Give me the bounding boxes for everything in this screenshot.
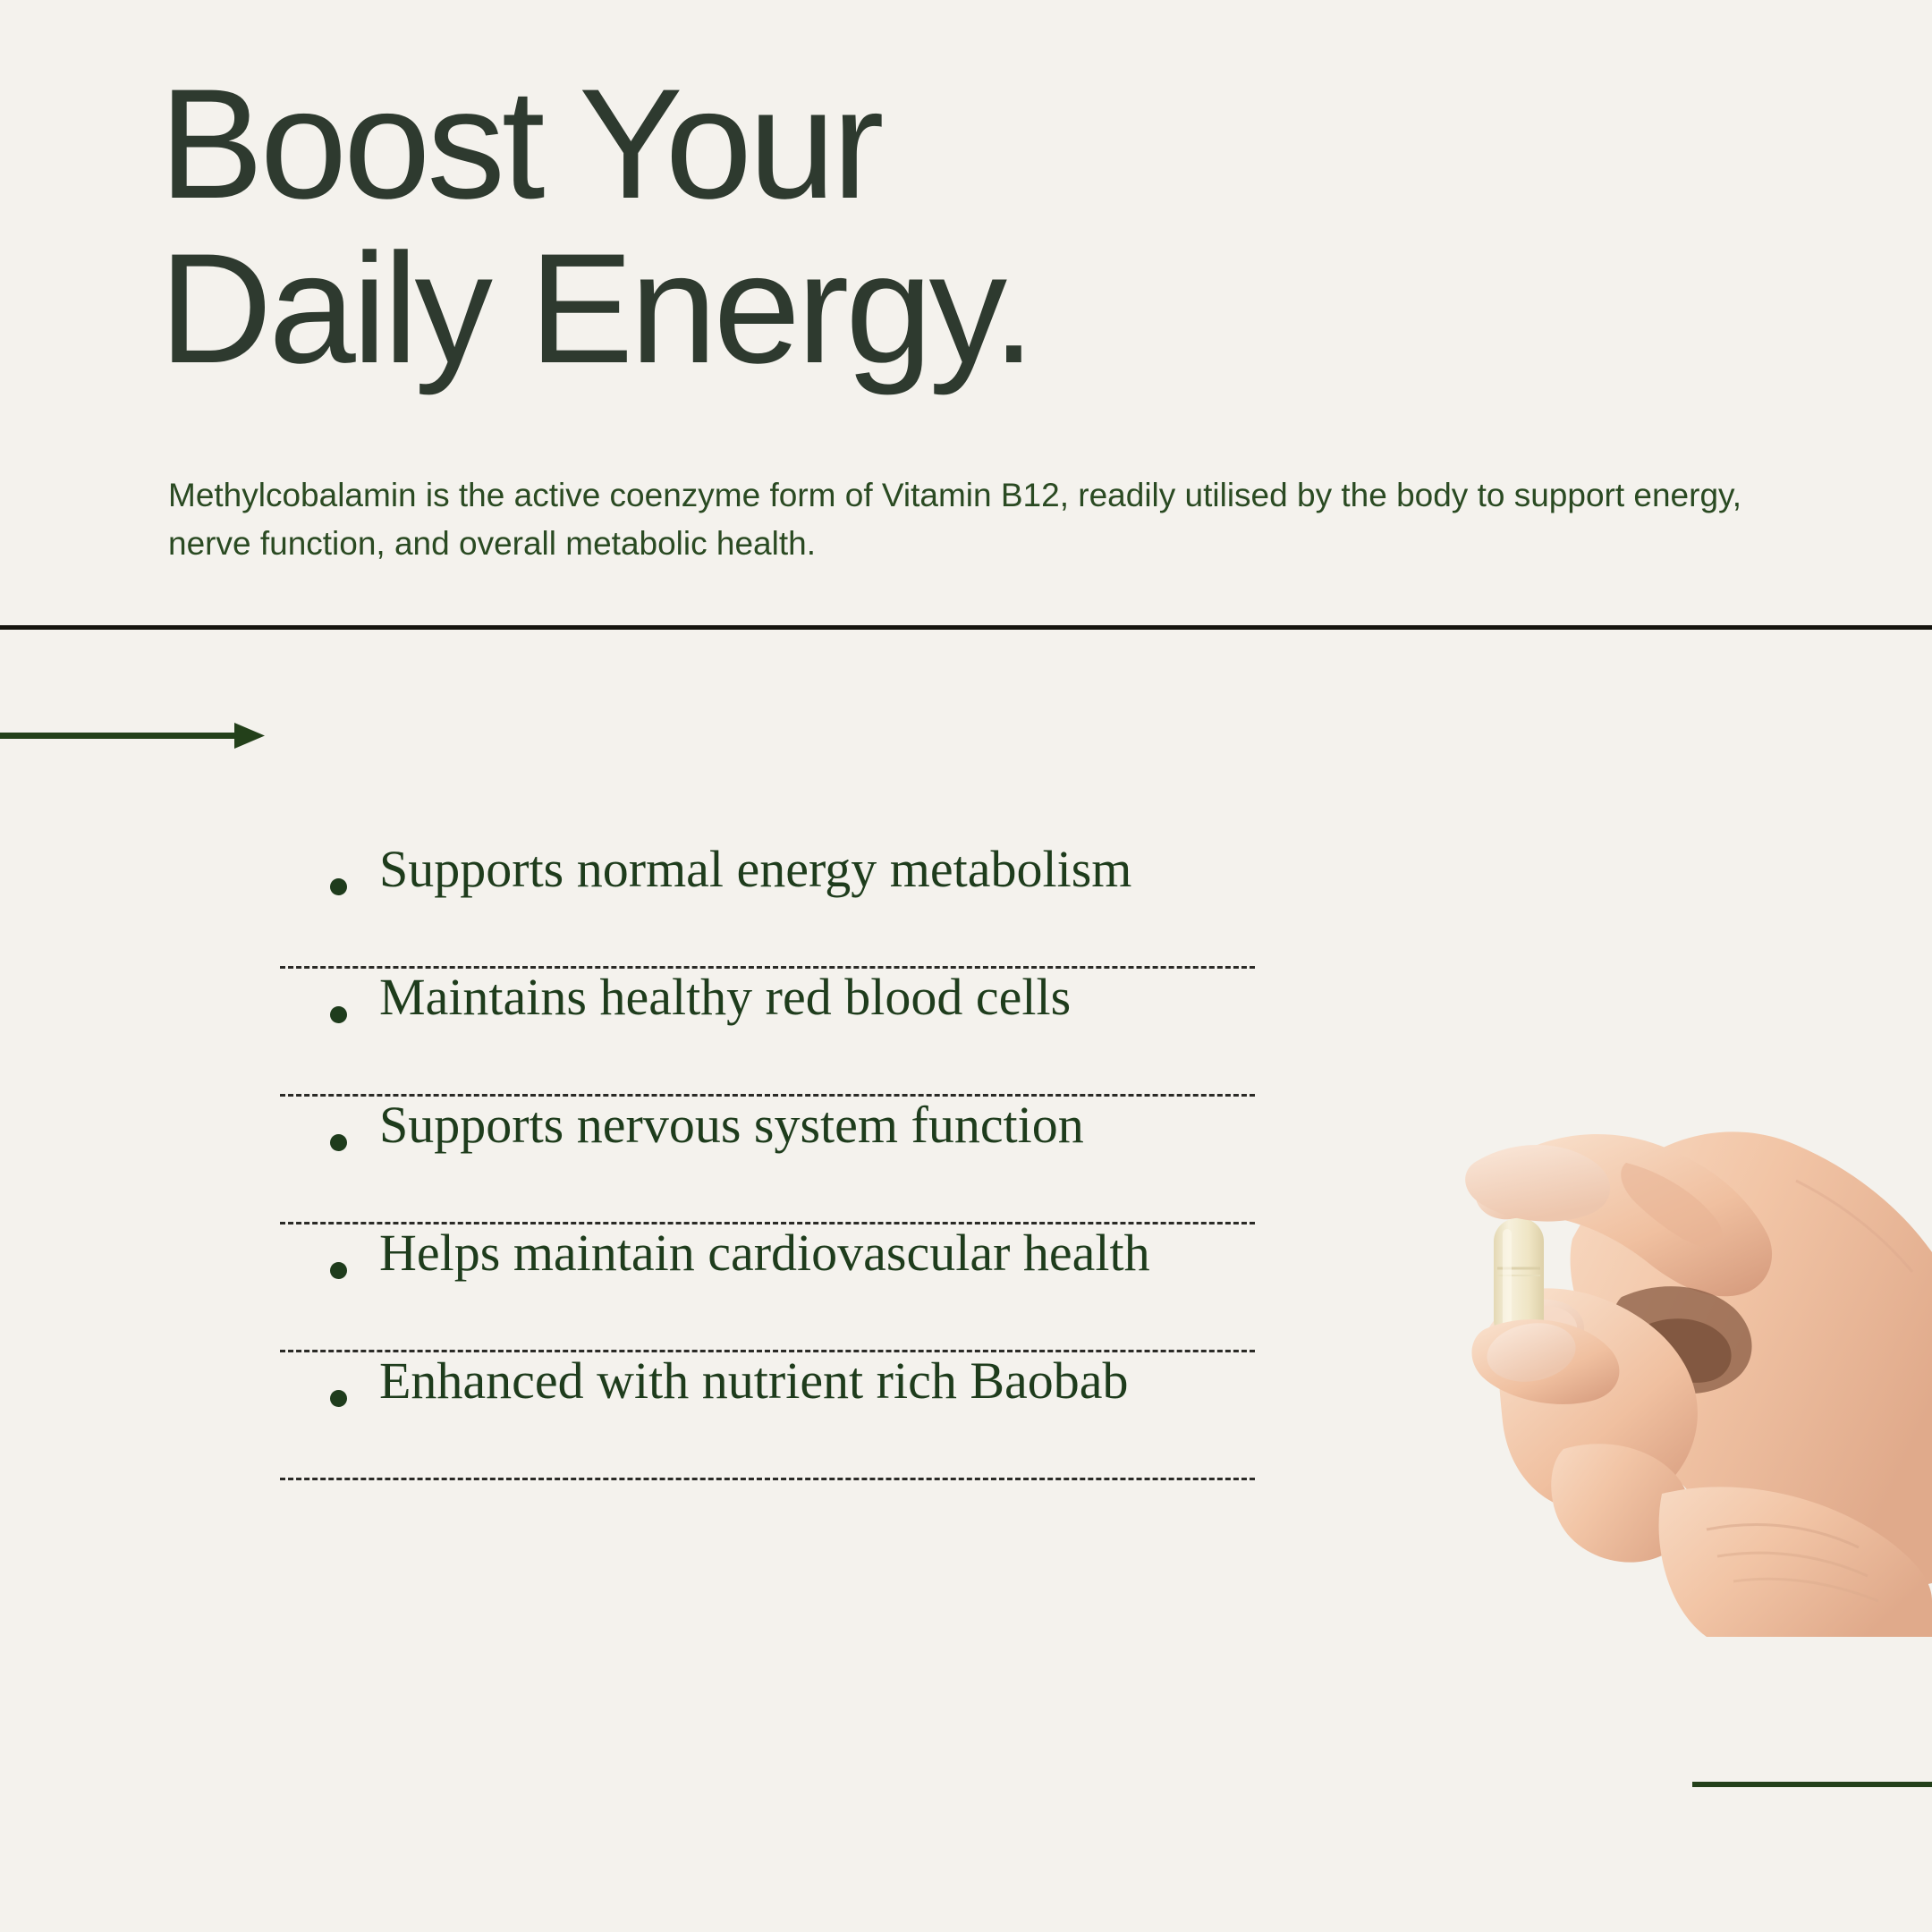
- benefits-list: Supports normal energy metabolism Mainta…: [280, 841, 1255, 1480]
- benefit-label: Supports nervous system function: [322, 1097, 1084, 1154]
- list-item: Maintains healthy red blood cells: [280, 969, 1255, 1097]
- bullet-dot-icon: [330, 878, 347, 895]
- right-arrow-icon: [0, 707, 277, 769]
- header-divider-rule: [0, 625, 1932, 630]
- page-title: Boost Your Daily Energy.: [159, 63, 1501, 392]
- list-item: Helps maintain cardiovascular health: [280, 1224, 1255, 1352]
- bullet-dot-icon: [330, 1390, 347, 1407]
- bullet-dot-icon: [330, 1006, 347, 1023]
- accent-bar: [1692, 1782, 1932, 1787]
- dashed-separator: [280, 1478, 1255, 1480]
- benefit-label: Helps maintain cardiovascular health: [322, 1224, 1150, 1282]
- poster-canvas: Boost Your Daily Energy. Methylcobalamin…: [0, 0, 1932, 1932]
- bullet-dot-icon: [330, 1262, 347, 1279]
- hand-holding-capsule-image: [1438, 1029, 1932, 1637]
- benefit-label: Maintains healthy red blood cells: [322, 969, 1071, 1026]
- list-item: Supports normal energy metabolism: [280, 841, 1255, 969]
- list-item: Enhanced with nutrient rich Baobab: [280, 1352, 1255, 1480]
- benefit-label: Enhanced with nutrient rich Baobab: [322, 1352, 1129, 1410]
- bullet-dot-icon: [330, 1134, 347, 1151]
- benefit-label: Supports normal energy metabolism: [322, 841, 1131, 898]
- list-item: Supports nervous system function: [280, 1097, 1255, 1224]
- subtitle-paragraph: Methylcobalamin is the active coenzyme f…: [168, 471, 1805, 567]
